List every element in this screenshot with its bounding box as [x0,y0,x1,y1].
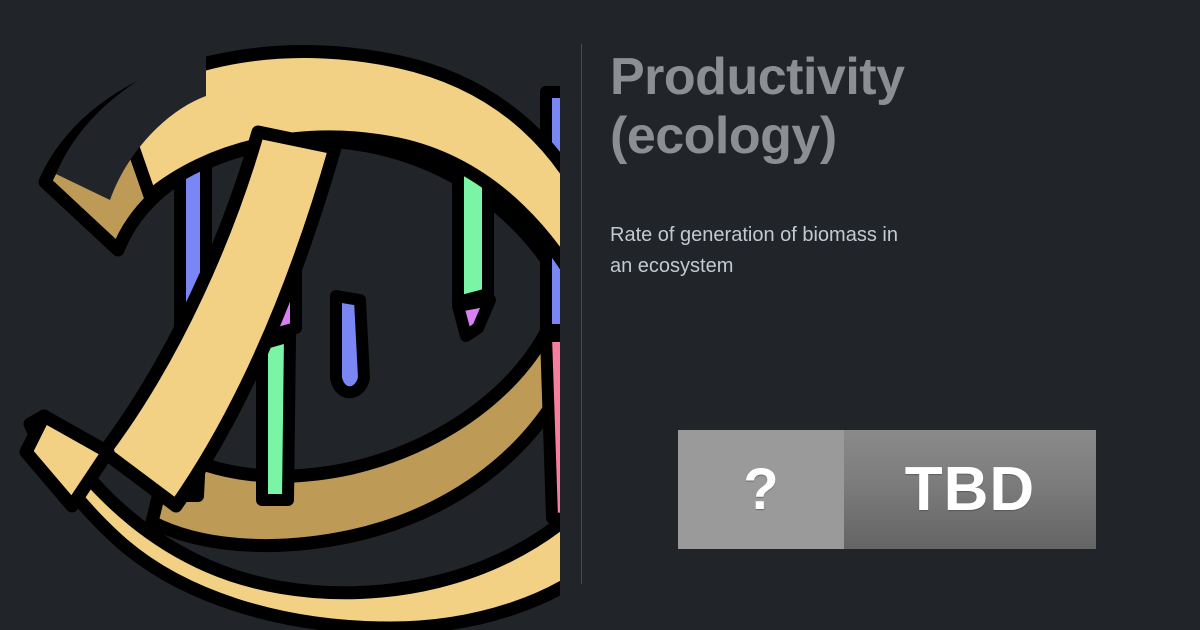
dna-double-helix-illustration [0,0,560,630]
illustration-pane [0,0,560,630]
social-preview-card: Productivity (ecology) Rate of generatio… [0,0,1200,630]
text-pane: Productivity (ecology) Rate of generatio… [610,0,1170,630]
status-badge: ? TBD [678,430,1096,549]
page-title: Productivity (ecology) [610,48,1130,166]
badge-label: TBD [905,459,1035,521]
badge-icon-segment: ? [678,430,844,549]
page-subtitle: Rate of generation of biomass in an ecos… [610,220,990,282]
vertical-divider [581,44,582,584]
badge-label-segment: TBD [844,430,1096,549]
dna-base-pair-3 [336,296,364,392]
question-mark-icon: ? [743,461,778,519]
